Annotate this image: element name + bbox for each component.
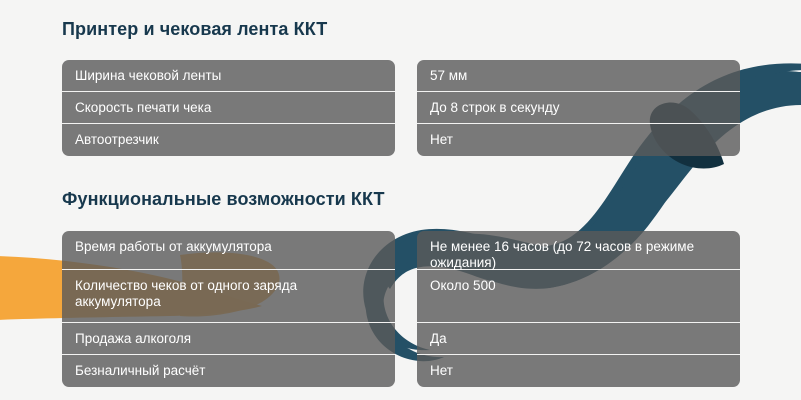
table-row: Количество чеков от одного заряда аккуму… [62, 270, 395, 323]
row-label: Продажа алкоголя [75, 331, 191, 347]
table-row: Нет [417, 124, 740, 156]
row-label: Ширина чековой ленты [75, 68, 221, 84]
section-title-features: Функциональные возможности ККТ [62, 189, 385, 210]
table-row: Не менее 16 часов (до 72 часов в режиме … [417, 231, 740, 270]
table-features-labels: Время работы от аккумулятора Количество … [62, 231, 395, 387]
section-title-printer: Принтер и чековая лента ККТ [62, 19, 327, 40]
slide-content: Принтер и чековая лента ККТ Ширина чеков… [0, 0, 801, 400]
row-label: Количество чеков от одного заряда аккуму… [75, 278, 383, 310]
table-row: Нет [417, 355, 740, 387]
row-label: Скорость печати чека [75, 100, 211, 116]
table-features-values: Не менее 16 часов (до 72 часов в режиме … [417, 231, 740, 387]
row-value: Да [430, 331, 447, 347]
table-row: Время работы от аккумулятора [62, 231, 395, 270]
table-printer-values: 57 мм До 8 строк в секунду Нет [417, 60, 740, 156]
table-printer-labels: Ширина чековой ленты Скорость печати чек… [62, 60, 395, 156]
table-row: Безналичный расчёт [62, 355, 395, 387]
row-value: Нет [430, 363, 453, 379]
table-row: 57 мм [417, 60, 740, 92]
table-row: Продажа алкоголя [62, 323, 395, 355]
row-value: До 8 строк в секунду [430, 100, 560, 116]
row-label: Безналичный расчёт [75, 363, 205, 379]
row-value: Около 500 [430, 278, 496, 294]
row-label: Автоотрезчик [75, 132, 159, 148]
table-row: Да [417, 323, 740, 355]
table-row: До 8 строк в секунду [417, 92, 740, 124]
table-row: Автоотрезчик [62, 124, 395, 156]
row-value: Не менее 16 часов (до 72 часов в режиме … [430, 239, 728, 271]
table-row: Около 500 [417, 270, 740, 323]
row-value: Нет [430, 132, 453, 148]
slide-canvas: Принтер и чековая лента ККТ Ширина чеков… [0, 0, 801, 400]
table-row: Скорость печати чека [62, 92, 395, 124]
row-value: 57 мм [430, 68, 467, 84]
row-label: Время работы от аккумулятора [75, 239, 272, 255]
table-row: Ширина чековой ленты [62, 60, 395, 92]
